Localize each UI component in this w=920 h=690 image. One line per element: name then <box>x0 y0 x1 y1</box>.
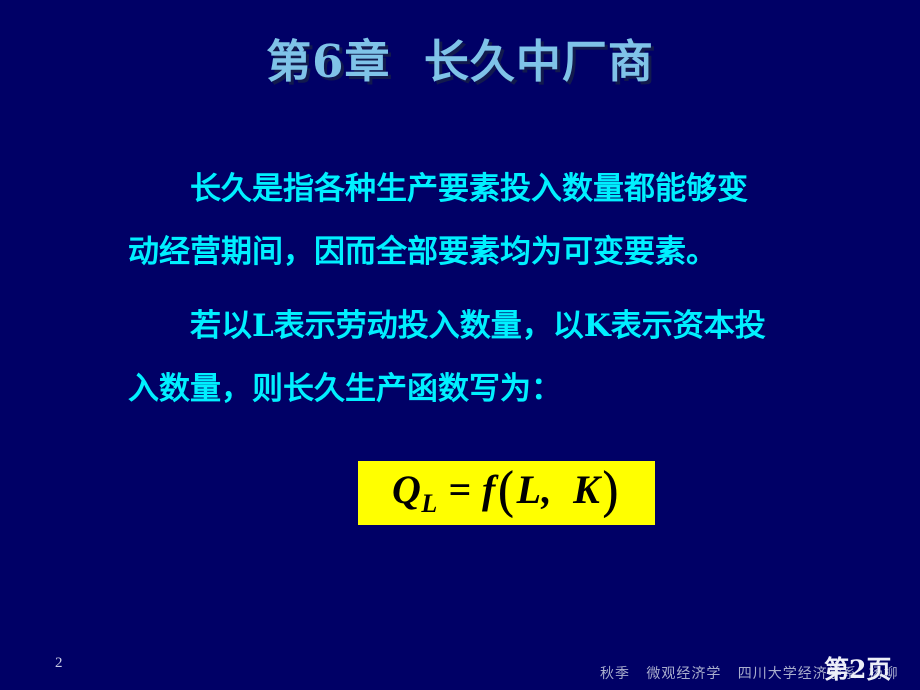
formula-close-paren: ) <box>600 463 621 523</box>
formula-lhs-subscript: L <box>421 489 437 518</box>
formula-highlight-box: QL = f(L, K) <box>358 461 655 525</box>
paragraph-2-line-2: 入数量，则长久生产函数写为： <box>128 358 880 421</box>
formula-lhs: Q <box>392 467 421 512</box>
slide-title: 第6章 长久中厂商 <box>0 34 920 90</box>
formula-function-name: f <box>482 467 496 512</box>
formula-arg-2: K <box>573 467 600 512</box>
formula-equals: = <box>438 467 482 512</box>
paragraph-2-line-1: 若以L表示劳动投入数量，以K表示资本投 <box>128 295 880 358</box>
production-function-formula: QL = f(L, K) <box>392 467 621 519</box>
formula-open-paren: ( <box>496 463 517 523</box>
paragraph-1-line-2: 动经营期间，因而全部要素均为可变要素。 <box>128 221 880 284</box>
formula-comma: , <box>542 467 574 512</box>
slide-number-bottom-left: 2 <box>55 655 63 672</box>
footer-page-label: 第2页 <box>824 650 891 686</box>
body-paragraph-2: 若以L表示劳动投入数量，以K表示资本投 入数量，则长久生产函数写为： <box>128 295 880 421</box>
presentation-slide: 第6章 长久中厂商 长久是指各种生产要素投入数量都能够变 动经营期间，因而全部要… <box>0 0 920 690</box>
paragraph-1-line-1: 长久是指各种生产要素投入数量都能够变 <box>128 158 880 221</box>
body-paragraph-1: 长久是指各种生产要素投入数量都能够变 动经营期间，因而全部要素均为可变要素。 <box>128 158 880 284</box>
formula-arg-1: L <box>517 467 542 512</box>
